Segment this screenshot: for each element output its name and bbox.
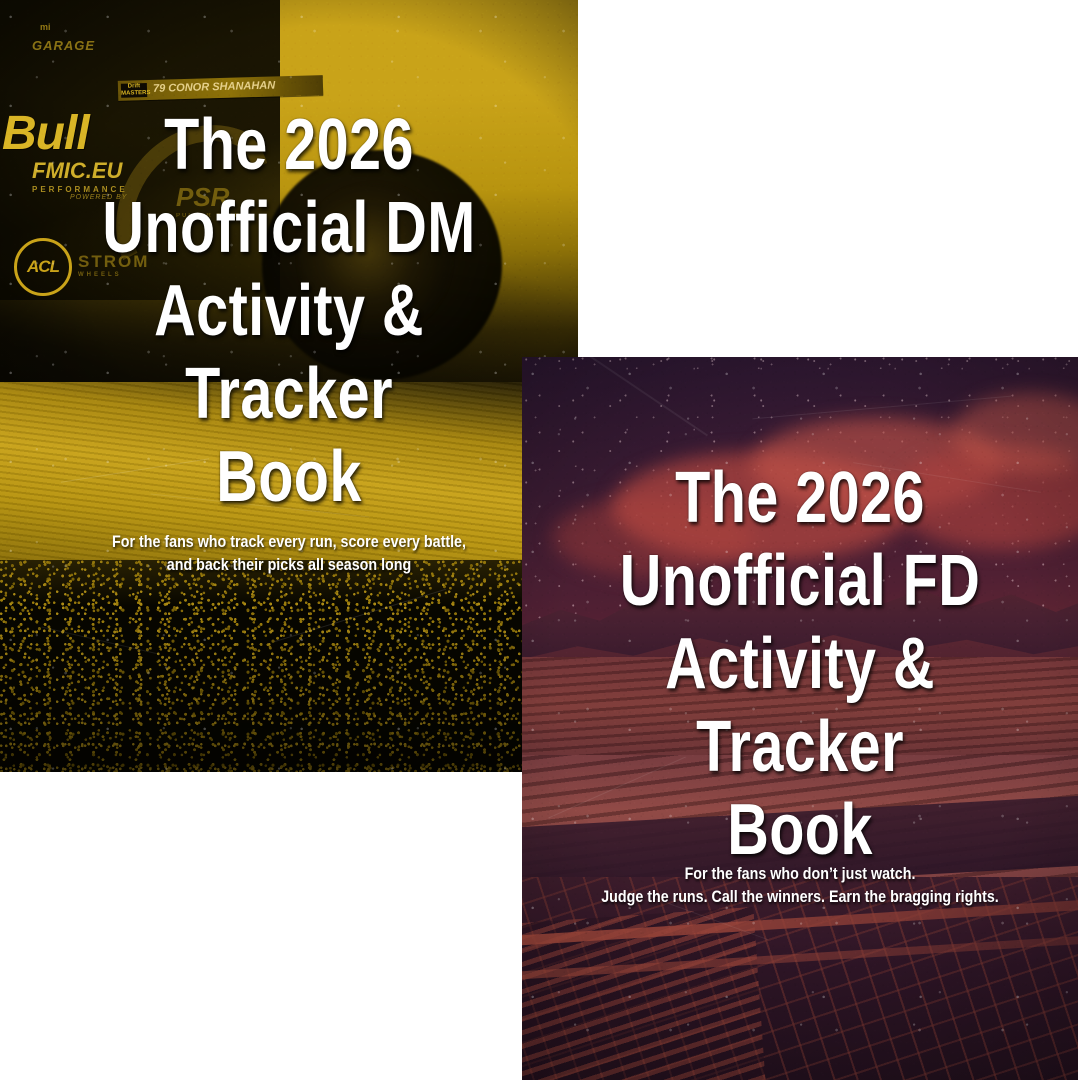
dm-sponsor-acl: ACL	[14, 238, 72, 296]
dm-sponsor-fmic-sub: PERFORMANCE	[32, 185, 128, 194]
dm-sponsor-psr-sub: PULSAR TURBO	[176, 213, 248, 219]
dm-sponsor-fmic: FMIC.EU PERFORMANCE	[32, 158, 128, 194]
dm-driver-name: 79 CONOR SHANAHAN	[153, 79, 276, 94]
dm-sponsor-mi: mi	[40, 22, 51, 32]
dm-wheel-inner-shape	[300, 185, 450, 335]
dm-sponsor-psr: PSR PULSAR TURBO	[176, 182, 248, 219]
dm-sponsor-strom-text: STROM	[78, 252, 149, 271]
dm-sponsor-fmic-text: FMIC.EU	[32, 158, 122, 183]
dm-sponsor-bull: Bull	[2, 106, 89, 161]
poster-stage: mi GARAGE Drift MASTERS 79 CONOR SHANAHA…	[0, 0, 1080, 1080]
book-cover-dm[interactable]: mi GARAGE Drift MASTERS 79 CONOR SHANAHA…	[0, 0, 578, 772]
dm-powered-by: POWERED BY	[70, 194, 127, 201]
dm-sponsor-strom-sub: WHEELS	[78, 272, 149, 278]
dm-series-badge: Drift MASTERS	[121, 83, 147, 98]
fd-vignette	[522, 357, 1078, 1080]
dm-gravel-layer	[0, 560, 578, 772]
book-cover-fd[interactable]: The 2026 Unofficial FD Activity & Tracke…	[522, 357, 1078, 1080]
dm-sponsor-psr-text: PSR	[176, 182, 229, 212]
dm-sponsor-strom: STROM WHEELS	[78, 252, 149, 278]
dm-sponsor-garage: GARAGE	[32, 38, 95, 53]
